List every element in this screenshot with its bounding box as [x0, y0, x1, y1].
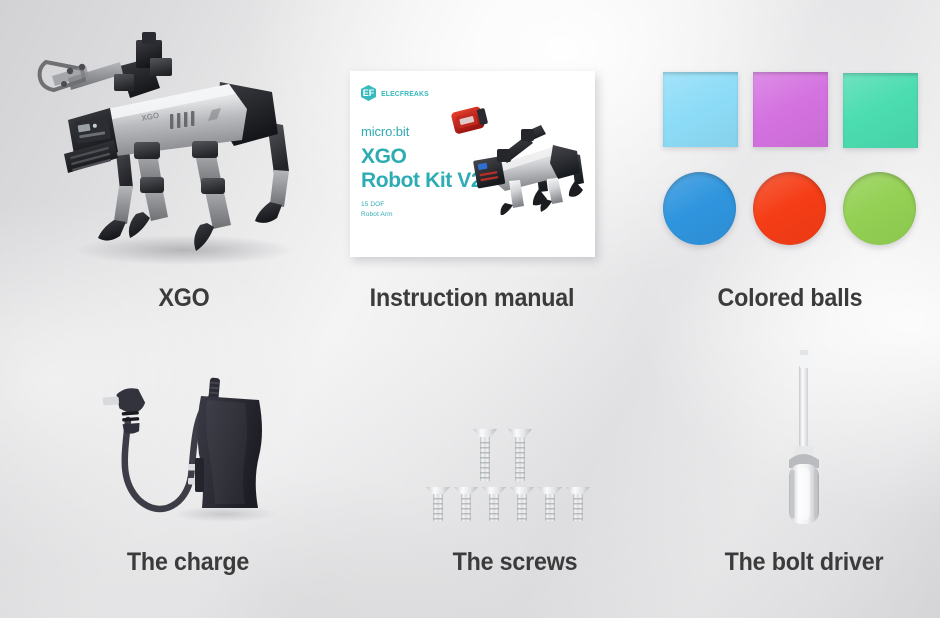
power-adapter-image [95, 372, 290, 522]
yellow-green-circle [843, 172, 916, 245]
caption-the-screws: The screws [441, 548, 590, 577]
elecfreaks-wordmark: ELECFREAKS [381, 89, 429, 98]
manual-platform-label: micro:bit [361, 124, 409, 139]
elecfreaks-hex-icon: EF [361, 85, 376, 101]
caption-the-charge: The charge [114, 548, 263, 577]
light-blue-square [663, 72, 738, 147]
colored-balls-group [660, 68, 922, 248]
product-contents-scene: XGO [0, 0, 940, 618]
manual-spec-dof: 15 DOF [361, 201, 384, 208]
orchid-square [753, 72, 828, 147]
spring-green-square [843, 73, 918, 148]
red-circle [753, 172, 826, 245]
manual-cover-robot-image [435, 93, 595, 215]
caption-colored-balls: Colored balls [697, 284, 883, 313]
elecfreaks-logo: EF ELECFREAKS [361, 85, 431, 101]
screw-set-image [425, 415, 605, 530]
caption-xgo: XGO [110, 284, 259, 313]
screwdriver-image [769, 338, 841, 528]
caption-the-bolt-driver: The bolt driver [724, 548, 884, 577]
screw-short-group [426, 487, 590, 521]
screw-long-group [473, 429, 532, 481]
caption-instruction-manual: Instruction manual [360, 284, 583, 313]
manual-spec-arm: Robot Arm [361, 211, 393, 218]
blue-circle [663, 172, 736, 245]
instruction-manual-card: EF ELECFREAKS micro:bit XGO Robot Kit V2… [350, 71, 595, 257]
xgo-robot-image: XGO [24, 14, 334, 269]
